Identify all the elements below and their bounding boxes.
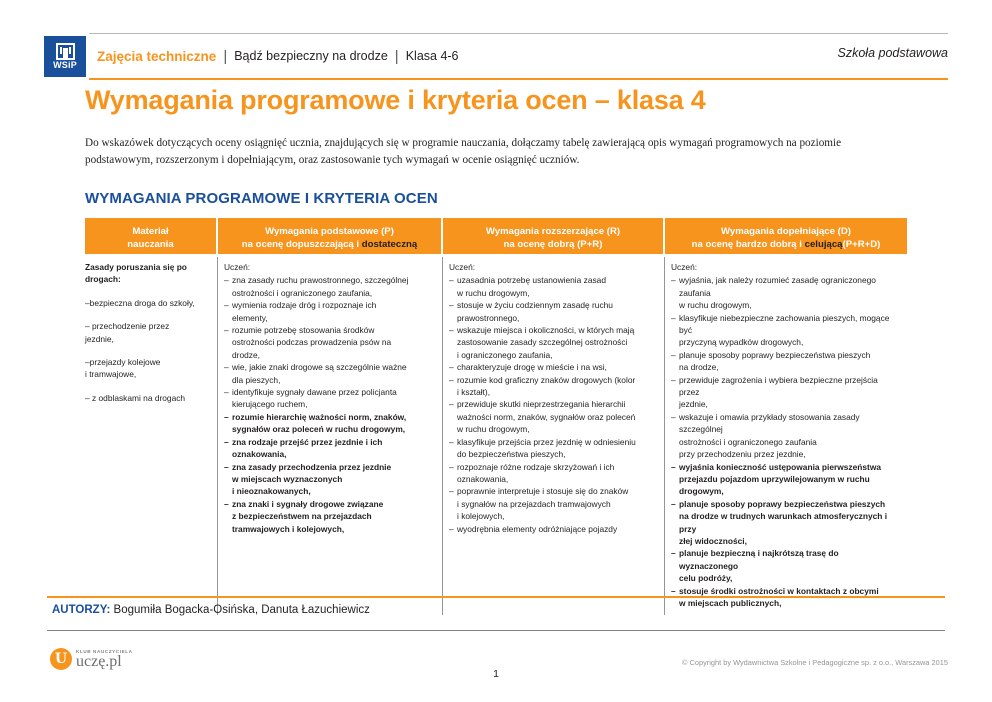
- requirement-item-basic: rozumie hierarchię ważności norm, znaków…: [224, 411, 435, 436]
- authors-top-rule: [47, 596, 945, 598]
- requirement-item-basic: wymienia rodzaje dróg i rozpoznaje ich e…: [224, 299, 435, 324]
- basic-requirements-list: zna zasady ruchu prawostronnego, szczegó…: [224, 274, 435, 535]
- table-body-row: Zasady poruszania się po drogach: –bezpi…: [85, 257, 907, 615]
- breadcrumb-separator-1: |: [223, 49, 227, 64]
- lead-uczen-extended: Uczeń:: [449, 261, 657, 273]
- requirement-item-extended: uzasadnia potrzebę ustanowienia zasad w …: [449, 274, 657, 299]
- requirement-item-extended: charakteryzuje drogę w mieście i na wsi,: [449, 361, 657, 373]
- requirements-table: Materiał nauczania Wymagania podstawowe …: [85, 218, 907, 615]
- authors-line: AUTORZY: Bogumiła Bogacka-Osińska, Danut…: [52, 604, 370, 616]
- intro-paragraph: Do wskazówek dotyczących oceny osiągnięć…: [85, 135, 875, 168]
- requirement-item-complementary: wyjaśnia, jak należy rozumieć zasadę ogr…: [671, 274, 900, 311]
- table-cell-basic: Uczeń: zna zasady ruchu prawostronnego, …: [218, 257, 443, 615]
- table-header-extended: Wymagania rozszerzające (R) na ocenę dob…: [443, 218, 665, 254]
- requirement-item-complementary: planuje bezpieczną i najkrótszą trasę do…: [671, 547, 900, 584]
- material-list-item: – z odblaskami na drogach: [85, 392, 210, 404]
- wsip-logo-text: WSiP: [53, 61, 77, 70]
- requirement-item-extended: klasyfikuje przejścia przez jezdnię w od…: [449, 436, 657, 461]
- table-header-complementary: Wymagania dopełniające (D) na ocenę bard…: [665, 218, 907, 254]
- requirement-item-complementary: klasyfikuje niebezpieczne zachowania pie…: [671, 312, 900, 349]
- requirement-item-basic: zna rodzaje przejść przez jezdnie i ich …: [224, 436, 435, 461]
- grade-emphasis-dostateczna: dostateczną: [362, 239, 417, 250]
- lead-uczen-complementary: Uczeń:: [671, 261, 900, 273]
- ucze-u-icon: U: [50, 648, 72, 670]
- authors-label: AUTORZY:: [52, 604, 110, 616]
- material-list: –bezpieczna droga do szkoły,– przechodze…: [85, 297, 210, 404]
- authors-names: Bogumiła Bogacka-Osińska, Danuta Łazuchi…: [110, 604, 370, 616]
- requirement-item-basic: wie, jakie znaki drogowe są szczególnie …: [224, 361, 435, 386]
- grade-emphasis-celujaca: celującą: [805, 239, 843, 250]
- requirement-item-extended: poprawnie interpretuje i stosuje się do …: [449, 485, 657, 522]
- requirement-item-extended: rozpoznaje różne rodzaje skrzyżowań i ic…: [449, 461, 657, 486]
- page-header: WSiP Zajęcia techniczne | Bądź bezpieczn…: [44, 33, 948, 80]
- material-heading: Zasady poruszania się po drogach:: [85, 261, 210, 286]
- requirement-item-extended: przewiduje skutki nieprzestrzegania hier…: [449, 398, 657, 435]
- requirement-item-complementary: przewiduje zagrożenia i wybiera bezpiecz…: [671, 374, 900, 411]
- table-header-material: Materiał nauczania: [85, 218, 218, 254]
- document-page: WSiP Zajęcia techniczne | Bądź bezpieczn…: [0, 0, 992, 702]
- breadcrumb: Zajęcia techniczne | Bądź bezpieczny na …: [97, 44, 459, 68]
- header-bottom-rule: [89, 78, 948, 80]
- table-header-row: Materiał nauczania Wymagania podstawowe …: [85, 218, 907, 254]
- requirement-item-extended: wskazuje miejsca i okoliczności, w który…: [449, 324, 657, 361]
- page-title: Wymagania programowe i kryteria ocen – k…: [85, 85, 905, 116]
- requirement-item-basic: zna znaki i sygnały drogowe związane z b…: [224, 498, 435, 535]
- requirement-item-complementary: wyjaśnia konieczność ustępowania pierwsz…: [671, 461, 900, 498]
- page-number: 1: [0, 668, 992, 680]
- requirement-item-basic: zna zasady przechodzenia przez jezdnie w…: [224, 461, 435, 498]
- material-list-item: – przechodzenie przez jezdnie,: [85, 320, 210, 345]
- breadcrumb-subject: Zajęcia techniczne: [97, 49, 216, 64]
- requirement-item-basic: identyfikuje sygnały dawane przez policj…: [224, 386, 435, 411]
- lead-uczen-basic: Uczeń:: [224, 261, 435, 273]
- wsip-logo: WSiP: [44, 36, 86, 77]
- breadcrumb-separator-2: |: [395, 49, 399, 64]
- copyright-notice: © Copyright by Wydawnictwa Szkolne i Ped…: [682, 658, 948, 667]
- wsip-emblem-icon: [56, 43, 75, 60]
- table-cell-extended: Uczeń: uzasadnia potrzebę ustanowienia z…: [443, 257, 665, 615]
- requirement-item-complementary: planuje sposoby poprawy bezpieczeństwa p…: [671, 498, 900, 548]
- header-top-rule: [89, 33, 948, 34]
- table-cell-material: Zasady poruszania się po drogach: –bezpi…: [85, 257, 218, 615]
- complementary-requirements-list: wyjaśnia, jak należy rozumieć zasadę ogr…: [671, 274, 900, 609]
- authors-bottom-rule: [47, 630, 945, 631]
- material-list-item: –bezpieczna droga do szkoły,: [85, 297, 210, 309]
- requirement-item-extended: stosuje w życiu codziennym zasadę ruchu …: [449, 299, 657, 324]
- requirement-item-extended: rozumie kod graficzny znaków drogowych (…: [449, 374, 657, 399]
- requirement-item-complementary: planuje sposoby poprawy bezpieczeństwa p…: [671, 349, 900, 374]
- requirement-item-basic: rozumie potrzebę stosowania środków ostr…: [224, 324, 435, 361]
- ucze-wordmark: uczę.pl: [76, 654, 133, 669]
- header-school-level: Szkoła podstawowa: [838, 46, 948, 60]
- breadcrumb-class: Klasa 4-6: [406, 49, 459, 63]
- requirement-item-extended: wyodrębnia elementy odróżniające pojazdy: [449, 523, 657, 535]
- requirement-item-basic: zna zasady ruchu prawostronnego, szczegó…: [224, 274, 435, 299]
- table-cell-complementary: Uczeń: wyjaśnia, jak należy rozumieć zas…: [665, 257, 907, 615]
- extended-requirements-list: uzasadnia potrzebę ustanowienia zasad w …: [449, 274, 657, 535]
- ucze-pl-logo: U KLUB NAUCZYCIELA uczę.pl: [50, 648, 133, 670]
- requirement-item-complementary: wskazuje i omawia przykłady stosowania z…: [671, 411, 900, 461]
- material-list-item: –przejazdy kolejowe i tramwajowe,: [85, 356, 210, 381]
- table-header-basic: Wymagania podstawowe (P) na ocenę dopusz…: [218, 218, 443, 254]
- breadcrumb-topic: Bądź bezpieczny na drodze: [234, 49, 388, 63]
- section-title: WYMAGANIA PROGRAMOWE I KRYTERIA OCEN: [85, 190, 438, 207]
